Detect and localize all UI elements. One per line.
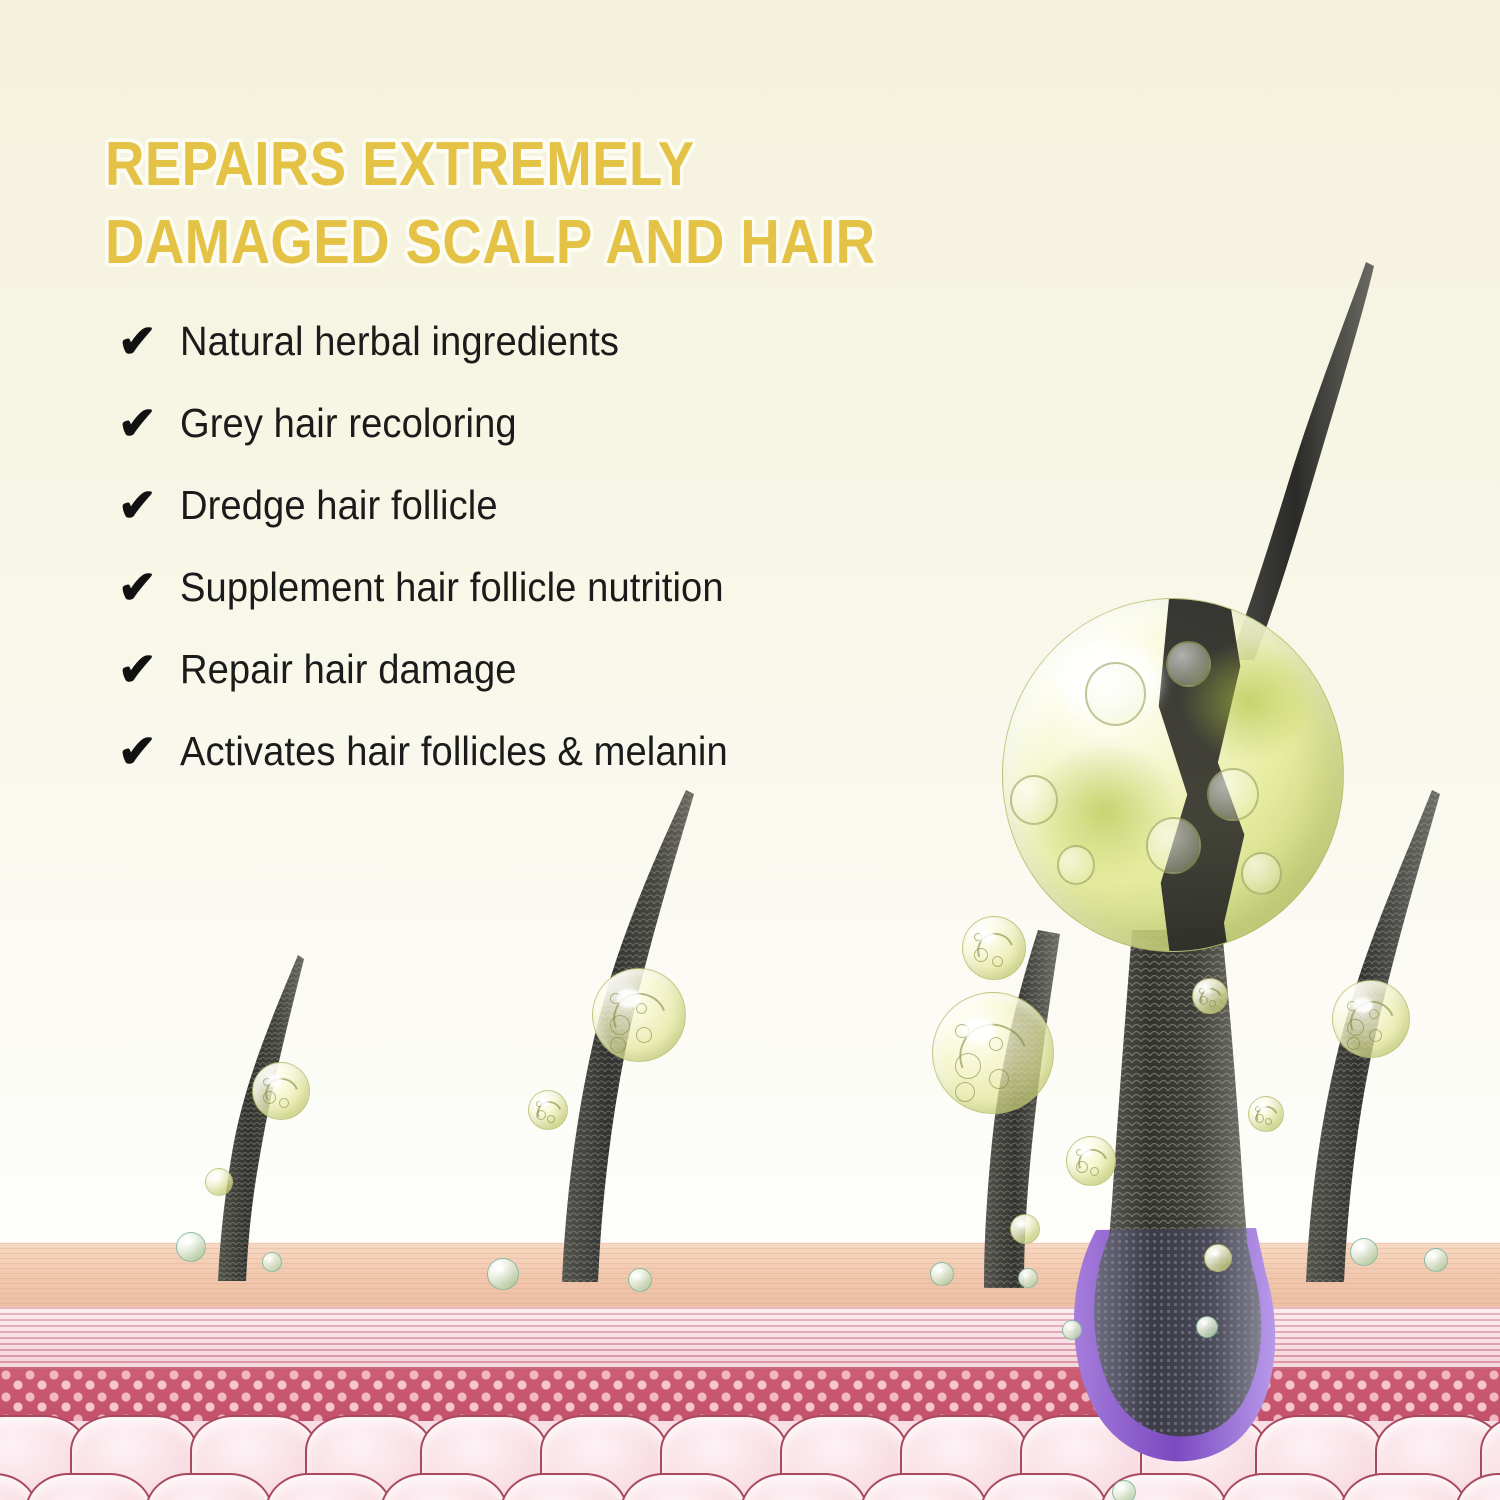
bubble-dot [1347, 1019, 1364, 1036]
oil-bubble [592, 968, 686, 1062]
hair-follicle-bulb [1060, 930, 1320, 1500]
oil-bubble [930, 1262, 954, 1286]
bubble-inner-circle [1010, 775, 1058, 825]
bubble-inner-circle [1146, 817, 1201, 874]
oil-bubble [1018, 1268, 1038, 1288]
bubble-dot [1255, 1106, 1261, 1112]
oil-bubble [1332, 980, 1410, 1058]
product-feature-poster: REPAIRS EXTREMELY DAMAGED SCALP AND HAIR… [0, 0, 1500, 1500]
oil-bubble-large [1002, 598, 1344, 952]
oil-bubble [1350, 1238, 1378, 1266]
bubble-dot [1347, 1037, 1360, 1050]
bubble-inner-circle [1085, 662, 1147, 726]
feature-list-item: ✔Repair hair damage [112, 628, 1012, 710]
bubble-dot [955, 1053, 981, 1079]
bubble-dot [974, 933, 982, 941]
oil-bubble [252, 1062, 310, 1120]
oil-bubble [962, 916, 1026, 980]
bubble-inner-circle [1241, 852, 1282, 895]
bubble-dot [1199, 988, 1205, 994]
oil-bubble [262, 1252, 282, 1272]
oil-bubble [628, 1268, 652, 1292]
bubble-dot [955, 1082, 975, 1102]
bubble-inner-circle [1057, 845, 1095, 884]
oil-bubble [932, 992, 1054, 1114]
bubble-dot [1076, 1149, 1083, 1156]
bubble-dot [263, 1091, 276, 1104]
bubble-dot [1369, 1029, 1382, 1042]
feature-list-item: ✔Dredge hair follicle [112, 464, 1012, 546]
bubble-dot [1076, 1161, 1088, 1173]
bubble-dot [1090, 1167, 1099, 1176]
bubble-dot [263, 1078, 271, 1086]
bubble-dot [536, 1101, 542, 1107]
bubble-dot [1347, 1001, 1357, 1011]
check-icon: ✔ [112, 482, 180, 528]
check-icon: ✔ [112, 400, 180, 446]
bubble-dot [989, 1069, 1009, 1089]
oil-bubble [1192, 978, 1228, 1014]
feature-list-item-label: Grey hair recoloring [180, 400, 517, 447]
oil-bubble [1112, 1480, 1136, 1500]
bubble-inner-circle [1207, 768, 1259, 821]
check-icon: ✔ [112, 728, 180, 774]
oil-bubble [1204, 1244, 1232, 1272]
bubble-dot [1369, 1009, 1379, 1019]
oil-bubble [1196, 1316, 1218, 1338]
oil-bubble [176, 1232, 206, 1262]
oil-bubble [487, 1258, 519, 1290]
bubble-dot [536, 1110, 546, 1120]
page-title: REPAIRS EXTREMELY DAMAGED SCALP AND HAIR [105, 126, 879, 282]
feature-list-item-label: Activates hair follicles & melanin [180, 728, 728, 775]
feature-list-item-label: Dredge hair follicle [180, 482, 498, 529]
oil-bubble [1424, 1248, 1448, 1272]
feature-list-item: ✔Activates hair follicles & melanin [112, 710, 1012, 792]
feature-list-item-label: Supplement hair follicle nutrition [180, 564, 724, 611]
oil-bubble [205, 1168, 233, 1196]
feature-list: ✔Natural herbal ingredients✔Grey hair re… [112, 300, 1012, 792]
feature-list-item-label: Repair hair damage [180, 646, 517, 693]
check-icon: ✔ [112, 646, 180, 692]
oil-bubble [1062, 1320, 1082, 1340]
bubble-dot [610, 993, 621, 1004]
feature-list-item-label: Natural herbal ingredients [180, 318, 619, 365]
oil-bubble [528, 1090, 568, 1130]
bubble-dot [610, 1037, 626, 1053]
feature-list-item: ✔Grey hair recoloring [112, 382, 1012, 464]
check-icon: ✔ [112, 564, 180, 610]
check-icon: ✔ [112, 318, 180, 364]
bubble-dot [955, 1024, 969, 1038]
oil-bubble [1066, 1136, 1116, 1186]
feature-list-item: ✔Supplement hair follicle nutrition [112, 546, 1012, 628]
feature-list-item: ✔Natural herbal ingredients [112, 300, 1012, 382]
bubble-dot [547, 1115, 555, 1123]
bubble-dot [610, 1015, 630, 1035]
oil-bubble [1248, 1096, 1284, 1132]
oil-bubble [1010, 1214, 1040, 1244]
